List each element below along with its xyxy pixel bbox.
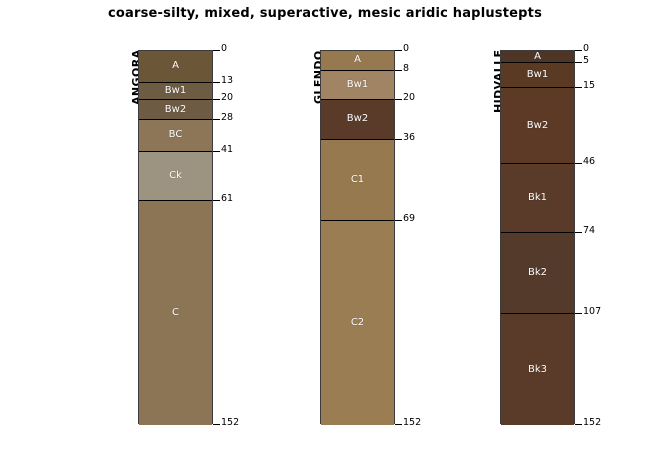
horizon-glendo-c1[interactable]: C1 — [321, 140, 394, 221]
tick-label: 41 — [221, 145, 233, 155]
tick-label: 28 — [221, 113, 233, 123]
horizon-hidvalle-a[interactable]: A — [501, 51, 574, 63]
tick-label: 69 — [403, 214, 415, 224]
tick-line — [575, 232, 582, 233]
horizon-label: Bw1 — [347, 80, 368, 90]
tick-line — [395, 99, 402, 100]
tick-label: 0 — [583, 44, 589, 54]
horizon-label: A — [172, 61, 179, 71]
horizon-angora-bw2[interactable]: Bw2 — [139, 100, 212, 120]
tick-line — [575, 163, 582, 164]
horizon-glendo-bw1[interactable]: Bw1 — [321, 71, 394, 101]
horizon-glendo-c2[interactable]: C2 — [321, 221, 394, 425]
tick-line — [575, 313, 582, 314]
tick-label: 20 — [403, 93, 415, 103]
tick-label: 15 — [583, 81, 595, 91]
horizon-label: C1 — [351, 175, 364, 185]
tick-line — [213, 82, 220, 83]
tick-label: 107 — [583, 307, 601, 317]
tick-label: 152 — [583, 418, 601, 428]
tick-line — [575, 87, 582, 88]
profile-body-angora: ABw1Bw2BCCkC — [138, 50, 213, 424]
tick-label: 0 — [403, 44, 409, 54]
tick-label: 152 — [403, 418, 421, 428]
tick-label: 74 — [583, 226, 595, 236]
horizon-glendo-a[interactable]: A — [321, 51, 394, 71]
depth-axis-hidvalle: 05154674107152 — [575, 50, 615, 424]
tick-line — [395, 220, 402, 221]
tick-label: 61 — [221, 194, 233, 204]
soil-profile-glendo: GLENDOABw1Bw2C1C208203669152 — [320, 50, 395, 424]
horizon-glendo-bw2[interactable]: Bw2 — [321, 100, 394, 139]
tick-line — [395, 70, 402, 71]
tick-line — [575, 50, 582, 51]
tick-line — [213, 424, 220, 425]
tick-line — [395, 139, 402, 140]
horizon-hidvalle-bw1[interactable]: Bw1 — [501, 63, 574, 88]
horizon-hidvalle-bk1[interactable]: Bk1 — [501, 164, 574, 233]
tick-label: 20 — [221, 93, 233, 103]
horizon-label: Bw1 — [527, 70, 548, 80]
tick-line — [395, 50, 402, 51]
tick-label: 46 — [583, 157, 595, 167]
horizon-label: Bk1 — [528, 193, 547, 203]
horizon-angora-c[interactable]: C — [139, 201, 212, 425]
horizon-label: A — [534, 52, 541, 62]
depth-axis-angora: 01320284161152 — [213, 50, 253, 424]
tick-label: 5 — [583, 56, 589, 66]
tick-line — [213, 151, 220, 152]
horizon-label: Bw2 — [347, 114, 368, 124]
tick-label: 8 — [403, 64, 409, 74]
horizon-label: Bw1 — [165, 86, 186, 96]
depth-axis-glendo: 08203669152 — [395, 50, 435, 424]
horizon-angora-a[interactable]: A — [139, 51, 212, 83]
profile-body-hidvalle: ABw1Bw2Bk1Bk2Bk3 — [500, 50, 575, 424]
horizon-angora-bc[interactable]: BC — [139, 120, 212, 152]
tick-label: 152 — [221, 418, 239, 428]
horizon-label: C — [172, 308, 179, 318]
tick-line — [395, 424, 402, 425]
tick-label: 0 — [221, 44, 227, 54]
horizon-label: A — [354, 55, 361, 65]
profile-body-glendo: ABw1Bw2C1C2 — [320, 50, 395, 424]
tick-line — [213, 119, 220, 120]
horizon-label: Ck — [169, 171, 182, 181]
page-title: coarse-silty, mixed, superactive, mesic … — [0, 6, 650, 21]
tick-line — [575, 62, 582, 63]
horizon-label: Bw2 — [527, 121, 548, 131]
horizon-angora-bw1[interactable]: Bw1 — [139, 83, 212, 100]
tick-line — [213, 99, 220, 100]
tick-line — [213, 200, 220, 201]
horizon-angora-ck[interactable]: Ck — [139, 152, 212, 201]
horizon-label: Bw2 — [165, 105, 186, 115]
horizon-label: Bk2 — [528, 268, 547, 278]
horizon-hidvalle-bw2[interactable]: Bw2 — [501, 88, 574, 164]
soil-profile-hidvalle: HIDVALLEABw1Bw2Bk1Bk2Bk305154674107152 — [500, 50, 575, 424]
horizon-hidvalle-bk3[interactable]: Bk3 — [501, 314, 574, 425]
horizon-label: Bk3 — [528, 365, 547, 375]
tick-line — [213, 50, 220, 51]
horizon-label: C2 — [351, 318, 364, 328]
horizon-label: BC — [169, 130, 183, 140]
tick-line — [575, 424, 582, 425]
tick-label: 13 — [221, 76, 233, 86]
soil-profile-angora: ANGORAABw1Bw2BCCkC01320284161152 — [138, 50, 213, 424]
tick-label: 36 — [403, 133, 415, 143]
horizon-hidvalle-bk2[interactable]: Bk2 — [501, 233, 574, 314]
